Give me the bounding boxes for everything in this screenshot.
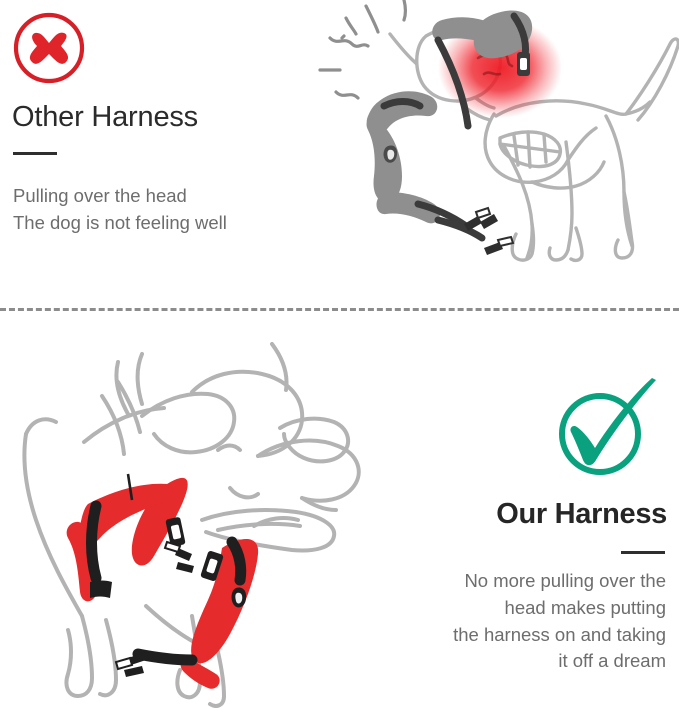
dashed-line (0, 308, 679, 311)
other-harness-description: Pulling over the head The dog is not fee… (13, 183, 227, 237)
our-body-line-3: the harness on and taking (391, 622, 666, 649)
our-body-line-4: it off a dream (391, 648, 666, 675)
title-divider-rule-other (13, 152, 57, 155)
comparison-infographic: Other Harness Pulling over the head The … (0, 0, 679, 709)
dog-wearing-other-harness-illustration (318, 0, 679, 271)
page-title-other-harness: Other Harness (12, 103, 198, 132)
check-circle-icon (548, 378, 660, 487)
our-body-line-2: head makes putting (391, 595, 666, 622)
other-body-line-1: Pulling over the head (13, 183, 227, 210)
page-title-our-harness: Our Harness (496, 500, 667, 529)
section-divider (0, 308, 679, 312)
other-body-line-2: The dog is not feeling well (13, 210, 227, 237)
our-body-line-1: No more pulling over the (391, 568, 666, 595)
cross-circle-icon (11, 10, 87, 91)
dog-wearing-our-harness-illustration (0, 330, 386, 709)
our-harness-description: No more pulling over the head makes putt… (391, 568, 666, 675)
title-divider-rule-our (621, 551, 665, 554)
